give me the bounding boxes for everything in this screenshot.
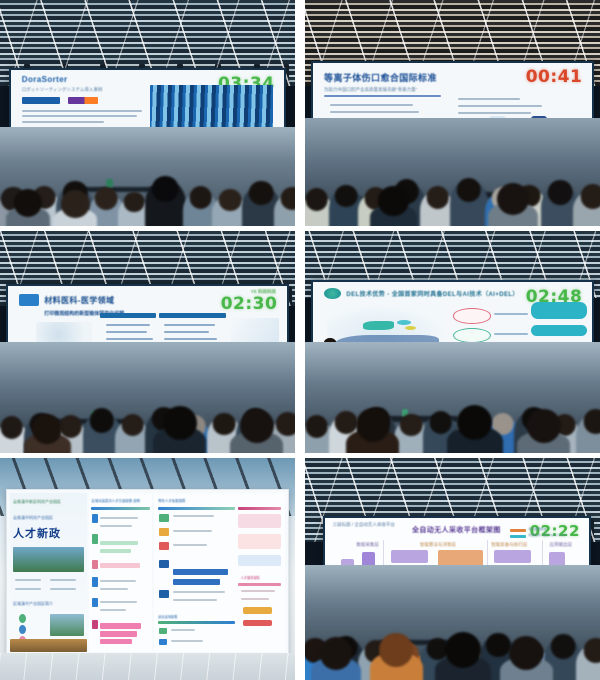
slide-title-2: 等离子体伤口愈合国际标准 [324,71,437,84]
collage-photo-5: 云南滇中新区科技产业园区 云南滇中科技产业园区 人才新政 区域滇中产业园区简介 [0,458,295,680]
poster-item [159,590,168,598]
fedex-logo [68,97,98,105]
legend-swatch-1 [510,529,526,532]
poster-cta [243,620,272,626]
poster-item [92,577,98,587]
poster-item [92,598,98,608]
collage-photo-3: 材料医科-医学领域 打印微观结构的新型植体国产化代替 02:30 YE 科技科技 [0,231,295,453]
poster-note [238,514,281,528]
audience-4 [305,342,600,453]
poster-highlight [100,563,139,568]
collage-photo-4: DEL技术优势 - 全国首家同时具备DEL与AI技术（AI+DEL） 02:48 [305,231,600,453]
poster-item [92,620,98,630]
slide-underline-2 [324,95,441,97]
slide-breadcrumb-6: 三级标题 / 全自动无人采收平台 [333,522,395,528]
poster-highlight [100,639,132,645]
audience-3 [0,342,295,453]
poster-item [159,639,167,645]
poster-item [159,542,168,550]
slide-logo-4 [324,288,341,299]
legend-label-2: 外部合作 / 接口 Open Cloud [528,533,565,537]
slide-title-4: DEL技术优势 - 全国首家同时具备DEL与AI技术（AI+DEL） [346,289,518,298]
note-card-1 [531,302,587,318]
audience-2 [305,118,600,226]
flow-node-3 [391,550,428,562]
poster-note [238,534,281,548]
legend-label-1: 平台自研模块 [528,527,546,531]
poster-cta [243,607,272,613]
slide-subtitle-1: ロボットソーティングシステム導入事例 [22,87,103,93]
poster-logo-text: 云南滇中新区科技产业园区 [13,499,61,505]
note-card-2 [531,325,587,336]
poster-item [92,560,98,570]
poster-highlight [100,549,130,554]
poster-section-title-2: 青年人才安居保障 [158,498,185,503]
poster-item [92,514,98,524]
atrium-floor [0,653,295,680]
poster-bar [173,579,220,585]
poster-item [159,628,167,634]
column-header-2: 智能算法与决策层 [420,542,456,548]
slide-title-3: 材料医科-医学领域 [44,295,114,306]
poster-left-column: 云南滇中新区科技产业园区 云南滇中科技产业园区 人才新政 区域滇中产业园区简介 [10,493,87,652]
photo-collage-grid: DoraSorter ロボットソーティングシステム導入事例 03:34 [0,0,600,680]
collage-photo-1: DoraSorter ロボットソーティングシステム導入事例 03:34 [0,0,295,226]
column-header-1: 数据采集层 [356,542,379,548]
map-region-1 [363,321,394,330]
slide-table-header-3 [100,313,156,318]
map-region-2 [397,320,411,325]
collage-photo-6: 三级标题 / 全自动无人采收平台 全自动无人采收平台框架图 02:22 平台自研… [305,458,600,680]
poster-mid-column: 区域对高层次人才引进政策 说明 [89,493,152,652]
poster-section-title-1: 区域对高层次人才引进政策 说明 [91,498,139,503]
slide-subtitle-2: 为助力中国口腔产业高质量发展贡献"青春力量" [324,87,417,93]
bullet-pill-2 [453,328,491,343]
atrium-scene: 云南滇中新区科技产业园区 云南滇中科技产业园区 人才新政 区域滇中产业园区简介 [0,458,295,680]
poster-photo-2 [50,614,84,636]
poster-item [159,514,168,522]
poster-bar [173,569,228,575]
slide-chart-3 [231,318,278,343]
poster-highlight [100,541,138,546]
poster-icon-1 [19,614,26,624]
poster-bottom-title: 区域滇中产业园区简介 [13,601,53,607]
slide-table-header-4 [159,313,226,318]
poster-item [159,560,168,568]
slide-title-1: DoraSorter [22,75,68,84]
poster-note [238,555,281,566]
poster-section-title-3: 创业支持政策 [158,614,177,619]
poster-footer-band [10,639,87,652]
column-header-4: 应用输出层 [549,542,572,548]
poster-icon-2 [19,625,26,635]
legend-swatch-2 [510,535,526,538]
poster-headline: 人才新政 [13,525,61,541]
slide-brand-3: YE 科技科技 [251,289,276,295]
poster-highlight [100,623,141,629]
countdown-timer-2: 00:41 [526,67,583,87]
bullet-pill-1 [453,308,491,323]
poster-right-column: 青年人才安居保障 [154,493,285,652]
poster-eyebrow: 云南滇中科技产业园区 [13,515,53,521]
poster-section-title-4: 人才服务保障 [241,575,260,580]
slide-tag-1 [22,97,60,105]
audience-1 [0,127,295,226]
collage-photo-2: 等离子体伤口愈合国际标准 为助力中国口腔产业高质量发展贡献"青春力量" 00:4… [305,0,600,226]
map-region-3 [405,326,416,330]
poster-board: 云南滇中新区科技产业园区 云南滇中科技产业园区 人才新政 区域滇中产业园区简介 [6,489,289,656]
poster-item [92,534,98,544]
poster-highlight [100,631,137,637]
slide-icon-3 [19,294,39,306]
column-header-3: 智能装备与执行层 [491,542,527,548]
slide-title-6: 全自动无人采收平台框架图 [412,525,501,535]
poster-item [159,528,168,536]
flow-node-6 [494,550,531,562]
countdown-timer-3: 02:30 [221,294,278,314]
poster-hero-photo [13,547,84,572]
audience-6 [305,565,600,680]
